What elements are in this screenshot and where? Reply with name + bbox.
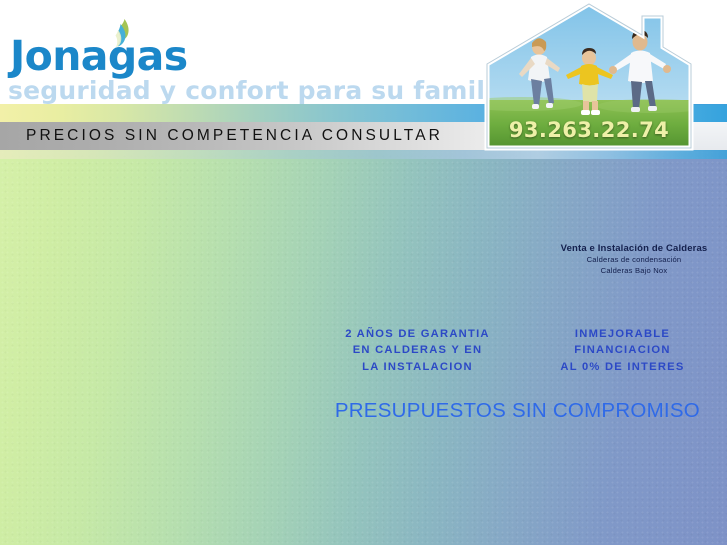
promo-financing-line-3: AL 0% DE INTERES: [535, 359, 710, 375]
promo-columns: 2 AÑOS DE GARANTIA EN CALDERAS Y EN LA I…: [330, 326, 710, 375]
promo-guarantee: 2 AÑOS DE GARANTIA EN CALDERAS Y EN LA I…: [330, 326, 505, 375]
quote-headline: PRESUPUESTOS SIN COMPROMISO: [300, 399, 700, 423]
site-tagline: seguridad y confort para su familia: [8, 76, 511, 105]
promo-financing-line-1: INMEJORABLE: [535, 326, 710, 342]
promo-banner-text: PRECIOS SIN COMPETENCIA CONSULTAR: [26, 127, 443, 145]
brand-wordmark: Jonagas: [10, 32, 188, 80]
promo-guarantee-line-1: 2 AÑOS DE GARANTIA: [330, 326, 505, 342]
boilers-line-2: Calderas Bajo Nox: [540, 266, 727, 277]
promo-financing-line-2: FINANCIACION: [535, 342, 710, 358]
page-root: Jonagas seguridad y confort para su fami…: [0, 0, 727, 545]
promo-guarantee-line-2: EN CALDERAS Y EN: [330, 342, 505, 358]
promo-guarantee-line-3: LA INSTALACION: [330, 359, 505, 375]
site-logo[interactable]: Jonagas: [10, 18, 210, 74]
boilers-line-1: Calderas de condensación: [540, 255, 727, 266]
house-photo: 93.263.22.74: [482, 0, 696, 152]
boilers-title: Venta e Instalación de Calderas: [540, 242, 727, 255]
boilers-info: Venta e Instalación de Calderas Calderas…: [540, 242, 727, 276]
promo-financing: INMEJORABLE FINANCIACION AL 0% DE INTERE…: [535, 326, 710, 375]
